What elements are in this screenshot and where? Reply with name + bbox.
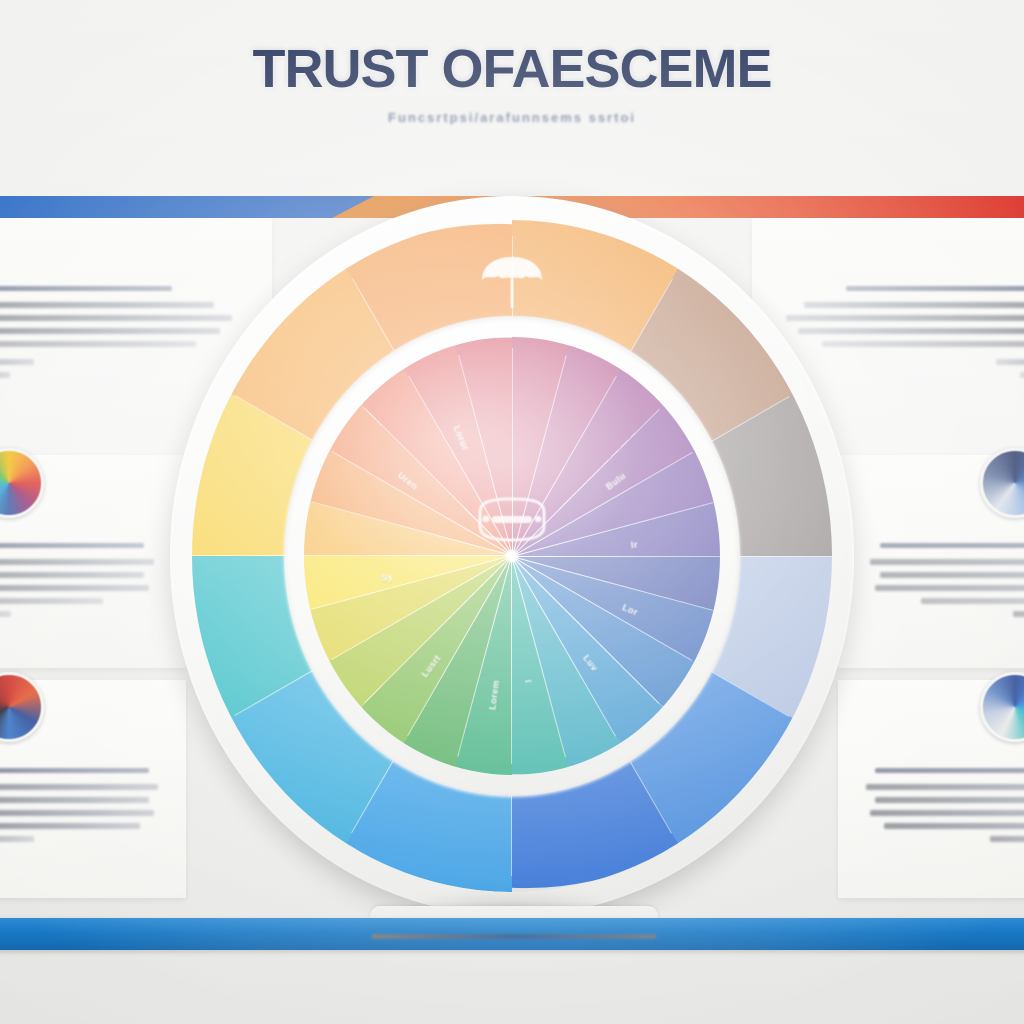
panel-top-left-caption bbox=[0, 286, 172, 291]
page-subtitle: Funcsrtpsi/arafunnsems ssrtoi bbox=[0, 110, 1024, 125]
inner-spectrum-wheel[interactable]: BuluIrLorLuvlLoremLusrtSyUrenLorur bbox=[304, 337, 720, 775]
badge-icon bbox=[470, 496, 554, 550]
card-bottom-right-body bbox=[852, 784, 1024, 842]
page-title: TRUST OFAESCEME bbox=[0, 42, 1024, 96]
panel-top-right-caption bbox=[846, 286, 1024, 291]
segment-divider bbox=[512, 556, 720, 557]
bottom-tab-edge bbox=[372, 934, 656, 939]
header-block: TRUST OFAESCEME Funcsrtpsi/arafunnsems s… bbox=[0, 42, 1024, 125]
segment-divider bbox=[304, 555, 512, 556]
color-wheel-chart[interactable]: BuluIrLorLuvlLoremLusrtSyUrenLorur bbox=[170, 196, 854, 936]
infographic-stage: TRUST OFAESCEME Funcsrtpsi/arafunnsems s… bbox=[0, 0, 1024, 1024]
segment-divider bbox=[511, 556, 512, 764]
wheel-hub bbox=[505, 549, 519, 563]
umbrella-icon bbox=[476, 254, 548, 310]
card-bottom-right-caption bbox=[875, 768, 1024, 773]
card-bottom-left-caption bbox=[0, 768, 149, 773]
card-mid-right-body bbox=[852, 559, 1024, 617]
card-bottom-left-body bbox=[0, 784, 172, 842]
card-mid-right-caption bbox=[880, 543, 1024, 548]
card-mid-left-body bbox=[0, 559, 172, 617]
card-mid-left-caption bbox=[0, 543, 144, 548]
